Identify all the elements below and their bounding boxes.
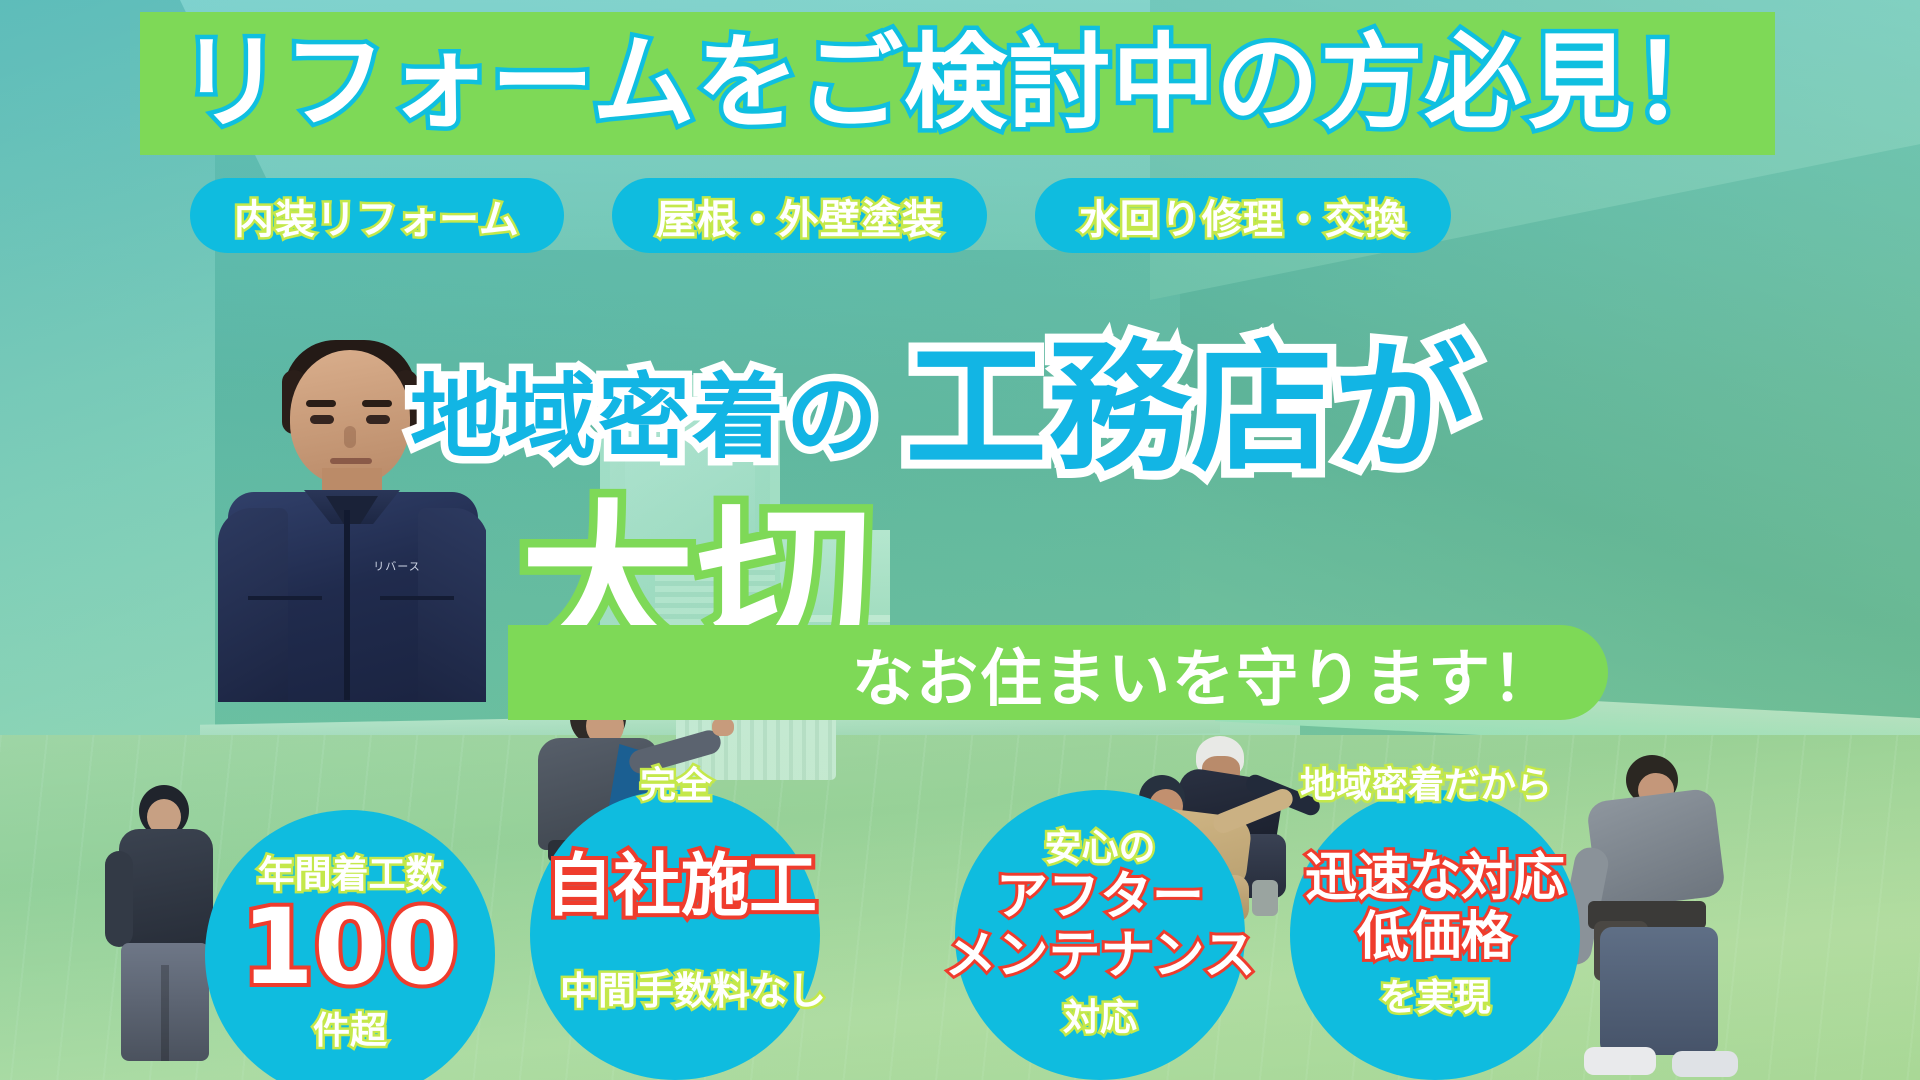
banner-root: リバース リフォームをご検討中の方必見！ 内装リフォーム 屋根・外壁塗装 水回り… xyxy=(0,0,1920,1080)
main-copy-line4: なお住まいを守ります！ xyxy=(852,628,1556,718)
headline-text: リフォームをご検討中の方必見！ xyxy=(179,32,1736,135)
badge-after-maintenance-note: 対応 xyxy=(1063,987,1137,1041)
worker-photo-crouching-left xyxy=(105,785,225,1060)
worker-photo-bending-far-right xyxy=(1560,755,1770,1080)
badge-annual-projects: 年間着工数 100 件超 xyxy=(205,810,495,1080)
badge-fast-low-cost-value-1: 迅速な対応 xyxy=(1305,849,1565,908)
uniform-logo-text: リバース xyxy=(368,558,426,572)
badge-after-maintenance-caption: 安心の xyxy=(1045,829,1156,868)
badge-after-maintenance-value-2: メンテナンス xyxy=(945,927,1256,986)
service-pill-interior[interactable]: 内装リフォーム xyxy=(190,178,564,253)
service-pill-roof-exterior-label: 屋根・外壁塗装 xyxy=(656,187,943,245)
badge-annual-projects-value: 100 xyxy=(241,894,458,1000)
service-pill-row: 内装リフォーム 屋根・外壁塗装 水回り修理・交換 xyxy=(190,178,1690,253)
badge-in-house-caption: 完全 xyxy=(640,756,712,808)
main-copy-line1: 地域密着の xyxy=(410,372,880,464)
badge-after-maintenance: 安心の アフター メンテナンス 対応 xyxy=(955,790,1245,1080)
service-pill-water-facilities-label: 水回り修理・交換 xyxy=(1079,187,1407,245)
top-headline-band: リフォームをご検討中の方必見！ xyxy=(140,12,1775,155)
sub-headline-band: なお住まいを守ります！ xyxy=(508,625,1608,720)
badge-after-maintenance-value-1: アフター xyxy=(996,868,1204,927)
service-pill-interior-label: 内装リフォーム xyxy=(234,187,520,245)
badge-fast-low-cost: 迅速な対応 低価格 を実現 xyxy=(1290,790,1580,1080)
badge-fast-low-cost-value-2: 低価格 xyxy=(1357,908,1513,967)
badge-in-house-value: 自社施工 xyxy=(545,830,817,929)
badge-in-house-note: 中間手数料なし xyxy=(560,960,826,1015)
service-pill-roof-exterior[interactable]: 屋根・外壁塗装 xyxy=(612,178,987,253)
badge-fast-low-cost-caption: 地域密着だから xyxy=(1300,756,1552,808)
badge-annual-projects-unit: 件超 xyxy=(313,1000,387,1054)
service-pill-water-facilities[interactable]: 水回り修理・交換 xyxy=(1035,178,1451,253)
main-copy-line2: 工務店が xyxy=(905,338,1477,480)
badge-fast-low-cost-note: を実現 xyxy=(1380,967,1491,1021)
